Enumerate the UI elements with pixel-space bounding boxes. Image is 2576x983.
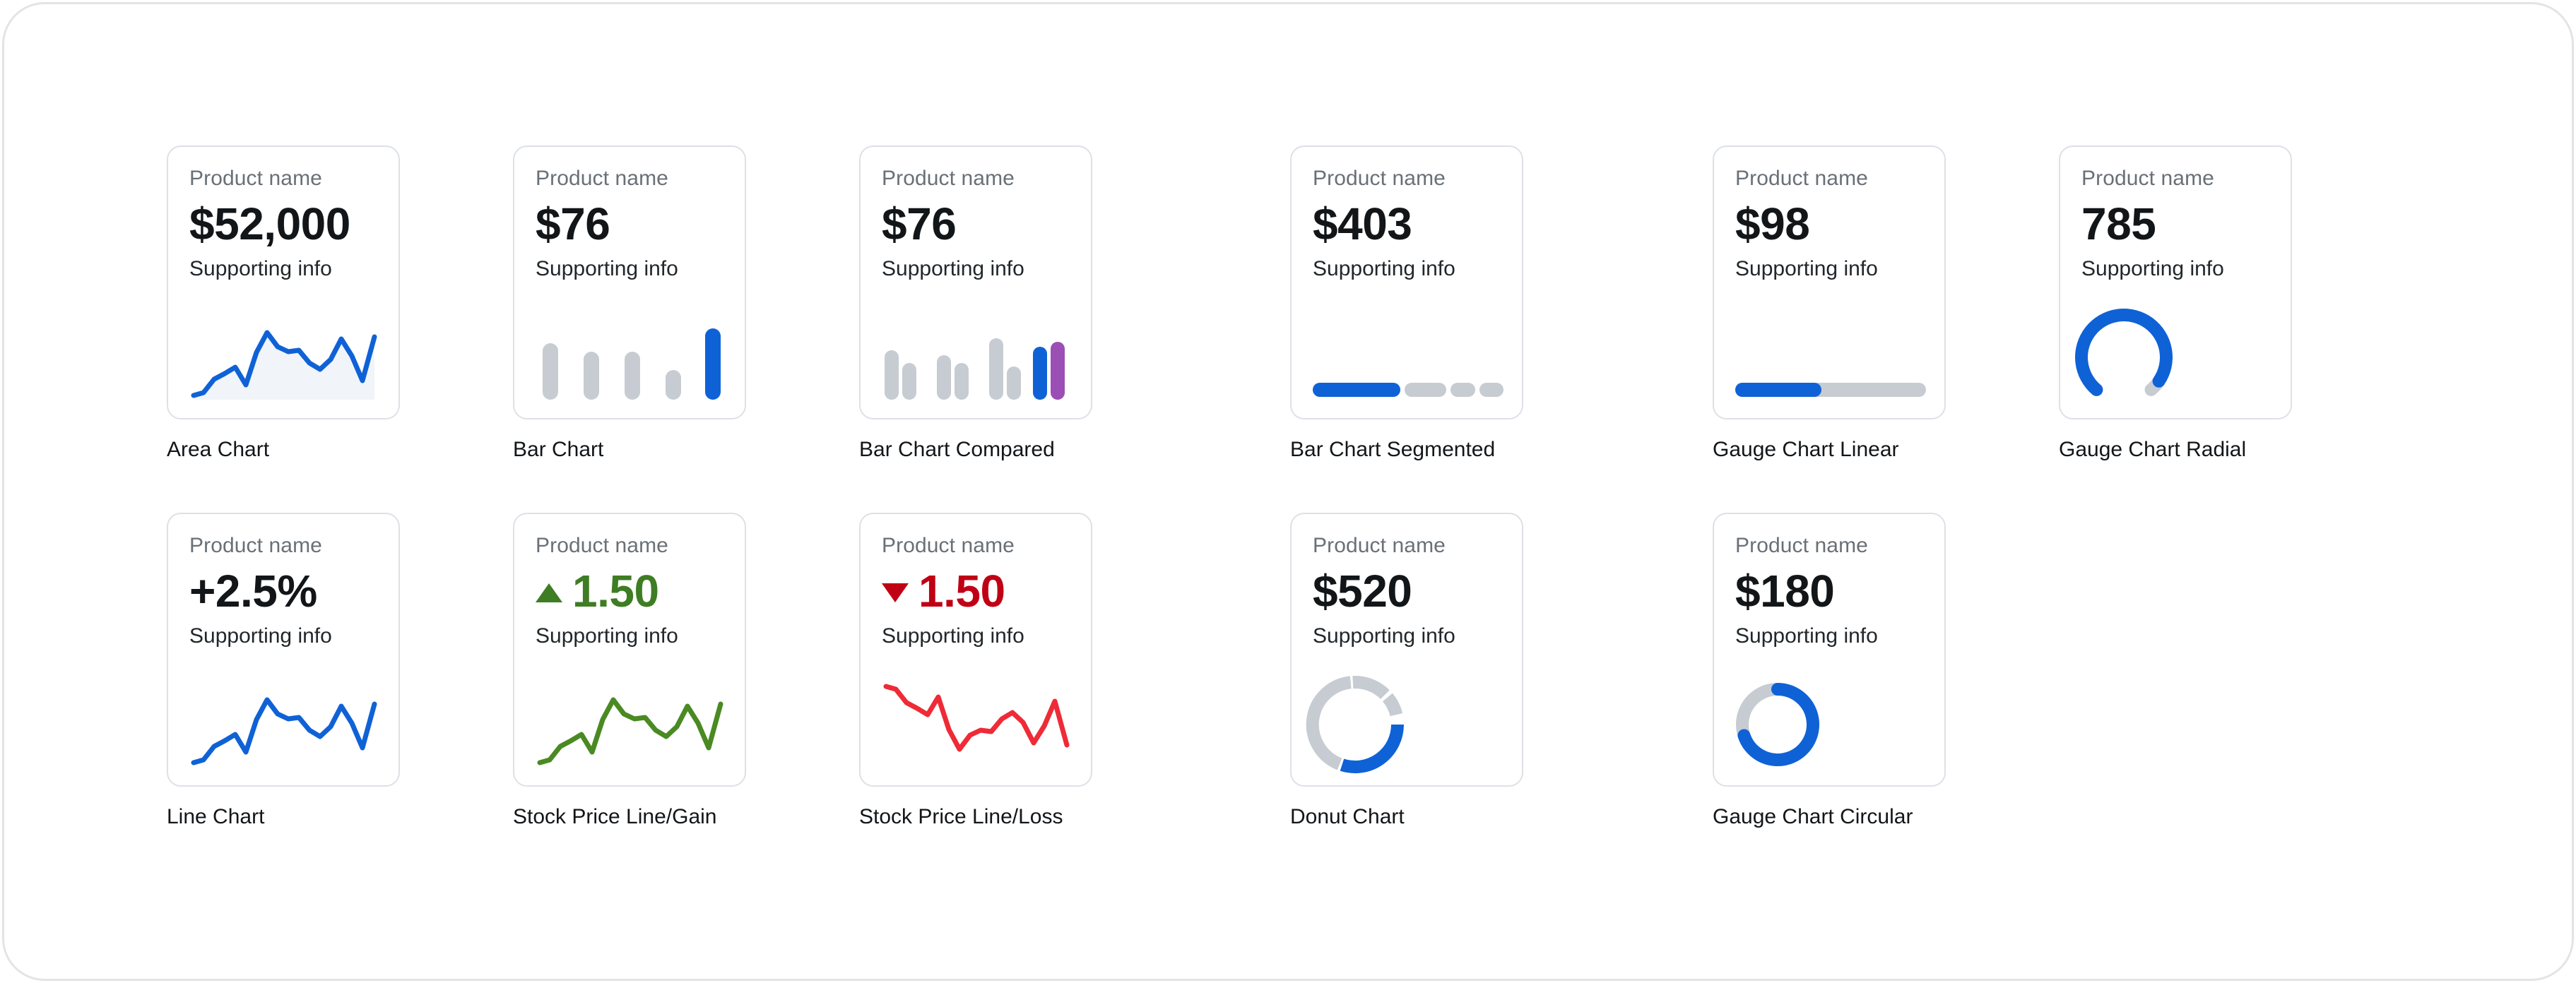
bar-item-b bbox=[1007, 367, 1021, 400]
line-path bbox=[194, 700, 374, 763]
stock-loss-line-viz bbox=[882, 682, 1073, 767]
supporting-info-label: Supporting info bbox=[882, 624, 1070, 649]
card-caption: Gauge Chart Circular bbox=[1713, 805, 1946, 829]
supporting-info-label: Supporting info bbox=[1313, 257, 1501, 282]
metric-value: $520 bbox=[1313, 567, 1501, 616]
metric-value-gain: 1.50 bbox=[536, 567, 723, 616]
metric-value-loss: 1.50 bbox=[882, 567, 1070, 616]
line-chart-viz bbox=[189, 682, 380, 767]
bar-item bbox=[543, 343, 558, 400]
card-donut-chart[interactable]: Product name $520 Supporting info bbox=[1290, 513, 1523, 787]
card-cell-stock-price-line-gain: Product name 1.50 Supporting info Stock bbox=[513, 513, 746, 829]
bar-item-b-highlight bbox=[1051, 342, 1065, 400]
donut-chart-viz bbox=[1313, 682, 1503, 767]
card-cell-line-chart: Product name +2.5% Supporting info Line … bbox=[167, 513, 400, 829]
metric-number: 1.50 bbox=[918, 567, 1005, 616]
card-bar-chart[interactable]: Product name $76 Supporting info bbox=[513, 145, 746, 419]
card-caption: Area Chart bbox=[167, 438, 400, 462]
supporting-info-label: Supporting info bbox=[2081, 257, 2269, 282]
gauge-radial-viz bbox=[2081, 315, 2272, 400]
card-row-2: Product name +2.5% Supporting info Line … bbox=[167, 513, 2463, 880]
card-bar-chart-compared[interactable]: Product name $76 Supporting info bbox=[859, 145, 1092, 419]
segment-empty bbox=[1405, 383, 1446, 397]
bar-chart-svg bbox=[536, 322, 726, 400]
gauge-linear-viz bbox=[1735, 383, 1926, 400]
area-chart-viz bbox=[189, 315, 380, 400]
product-name-label: Product name bbox=[189, 534, 377, 559]
product-name-label: Product name bbox=[1735, 534, 1923, 559]
card-cell-bar-chart-segmented: Product name $403 Supporting info bbox=[1290, 145, 1523, 462]
stock-loss-line-svg bbox=[882, 682, 1073, 767]
segmented-bar-viz bbox=[1313, 383, 1503, 400]
card-cell-gauge-chart-linear: Product name $98 Supporting info Gauge C… bbox=[1713, 145, 1946, 462]
card-caption: Stock Price Line/Loss bbox=[859, 805, 1092, 829]
area-fill-path bbox=[194, 333, 374, 400]
product-name-label: Product name bbox=[1735, 167, 1923, 191]
donut-slice-gray bbox=[1313, 682, 1351, 764]
product-name-label: Product name bbox=[1313, 534, 1501, 559]
card-bar-chart-segmented[interactable]: Product name $403 Supporting info bbox=[1290, 145, 1523, 419]
gauge-linear-svg bbox=[1735, 383, 1926, 397]
card-cell-bar-chart-compared: Product name $76 Supporting info bbox=[859, 145, 1092, 462]
donut-slice-gray bbox=[1353, 682, 1386, 695]
donut-slice-gray bbox=[1388, 697, 1396, 715]
product-name-label: Product name bbox=[2081, 167, 2269, 191]
segment-empty bbox=[1479, 383, 1503, 397]
bar-item-a-highlight bbox=[1033, 347, 1047, 400]
bar-chart-compared-viz bbox=[882, 322, 1073, 400]
bar-item-b bbox=[902, 363, 916, 400]
line-path bbox=[886, 686, 1067, 749]
card-cell-stock-price-line-loss: Product name 1.50 Supporting info Stock bbox=[859, 513, 1092, 829]
metric-value: $52,000 bbox=[189, 200, 377, 249]
product-name-label: Product name bbox=[882, 167, 1070, 191]
supporting-info-label: Supporting info bbox=[1735, 624, 1923, 649]
bar-item-b bbox=[955, 363, 969, 400]
metric-value: +2.5% bbox=[189, 567, 377, 616]
line-chart-svg bbox=[189, 682, 380, 767]
gauge-circular-svg bbox=[1735, 682, 1926, 767]
card-caption: Gauge Chart Linear bbox=[1713, 438, 1946, 462]
supporting-info-label: Supporting info bbox=[882, 257, 1070, 282]
metric-value: $76 bbox=[536, 200, 723, 249]
bar-item bbox=[666, 370, 681, 400]
card-gauge-chart-circular[interactable]: Product name $180 Supporting info bbox=[1713, 513, 1946, 787]
card-cell-donut-chart: Product name $520 Supporting info bbox=[1290, 513, 1523, 829]
supporting-info-label: Supporting info bbox=[189, 624, 377, 649]
card-caption: Line Chart bbox=[167, 805, 400, 829]
product-name-label: Product name bbox=[882, 534, 1070, 559]
metric-value: $180 bbox=[1735, 567, 1923, 616]
gauge-circular-viz bbox=[1735, 682, 1926, 767]
card-line-chart[interactable]: Product name +2.5% Supporting info bbox=[167, 513, 400, 787]
segment-empty bbox=[1451, 383, 1475, 397]
bar-item bbox=[625, 352, 640, 400]
metric-value: $76 bbox=[882, 200, 1070, 249]
bar-item-a bbox=[937, 355, 951, 400]
bar-item bbox=[584, 352, 599, 400]
bar-item-a bbox=[885, 350, 899, 400]
card-area-chart[interactable]: Product name $52,000 Supporting info bbox=[167, 145, 400, 419]
product-name-label: Product name bbox=[1313, 167, 1501, 191]
metric-value: 785 bbox=[2081, 200, 2269, 249]
card-grid: Product name $52,000 Supporting info Are… bbox=[167, 145, 2463, 880]
screenshot-root: Product name $52,000 Supporting info Are… bbox=[0, 0, 2576, 983]
card-stock-price-line-loss[interactable]: Product name 1.50 Supporting info bbox=[859, 513, 1092, 787]
card-cell-area-chart: Product name $52,000 Supporting info Are… bbox=[167, 145, 400, 462]
stock-gain-line-viz bbox=[536, 682, 726, 767]
card-caption: Gauge Chart Radial bbox=[2059, 438, 2292, 462]
card-stock-price-line-gain[interactable]: Product name 1.50 Supporting info bbox=[513, 513, 746, 787]
bar-chart-viz bbox=[536, 322, 726, 400]
gauge-radial-fill bbox=[2081, 315, 2166, 390]
area-chart-svg bbox=[189, 315, 380, 400]
card-cell-gauge-chart-circular: Product name $180 Supporting info bbox=[1713, 513, 1946, 829]
card-cell-gauge-chart-radial: Product name 785 Supporting info bbox=[2059, 145, 2292, 462]
card-gauge-chart-linear[interactable]: Product name $98 Supporting info bbox=[1713, 145, 1946, 419]
card-caption: Bar Chart bbox=[513, 438, 746, 462]
stock-gain-line-svg bbox=[536, 682, 726, 767]
outer-frame: Product name $52,000 Supporting info Are… bbox=[2, 2, 2574, 981]
product-name-label: Product name bbox=[536, 534, 723, 559]
card-caption: Bar Chart Segmented bbox=[1290, 438, 1523, 462]
segment-filled bbox=[1313, 383, 1400, 397]
card-caption: Stock Price Line/Gain bbox=[513, 805, 746, 829]
card-caption: Donut Chart bbox=[1290, 805, 1523, 829]
supporting-info-label: Supporting info bbox=[189, 257, 377, 282]
card-row-1: Product name $52,000 Supporting info Are… bbox=[167, 145, 2463, 513]
metric-value: $98 bbox=[1735, 200, 1923, 249]
product-name-label: Product name bbox=[189, 167, 377, 191]
trend-up-icon bbox=[536, 583, 562, 602]
line-path bbox=[540, 700, 721, 763]
bar-item-a bbox=[989, 338, 1003, 400]
segmented-bar-svg bbox=[1313, 383, 1503, 397]
card-cell-bar-chart: Product name $76 Supporting info bbox=[513, 145, 746, 462]
donut-slice-blue bbox=[1342, 725, 1398, 767]
trend-down-icon bbox=[882, 583, 909, 602]
card-caption: Bar Chart Compared bbox=[859, 438, 1092, 462]
supporting-info-label: Supporting info bbox=[536, 257, 723, 282]
metric-number: 1.50 bbox=[572, 567, 659, 616]
supporting-info-label: Supporting info bbox=[1313, 624, 1501, 649]
bar-chart-compared-svg bbox=[882, 322, 1073, 400]
donut-chart-svg bbox=[1313, 682, 1503, 767]
metric-value: $403 bbox=[1313, 200, 1501, 249]
gauge-fill bbox=[1735, 383, 1821, 397]
gauge-radial-svg bbox=[2081, 315, 2272, 400]
supporting-info-label: Supporting info bbox=[536, 624, 723, 649]
product-name-label: Product name bbox=[536, 167, 723, 191]
supporting-info-label: Supporting info bbox=[1735, 257, 1923, 282]
card-gauge-chart-radial[interactable]: Product name 785 Supporting info bbox=[2059, 145, 2292, 419]
bar-item-highlight bbox=[705, 328, 721, 400]
